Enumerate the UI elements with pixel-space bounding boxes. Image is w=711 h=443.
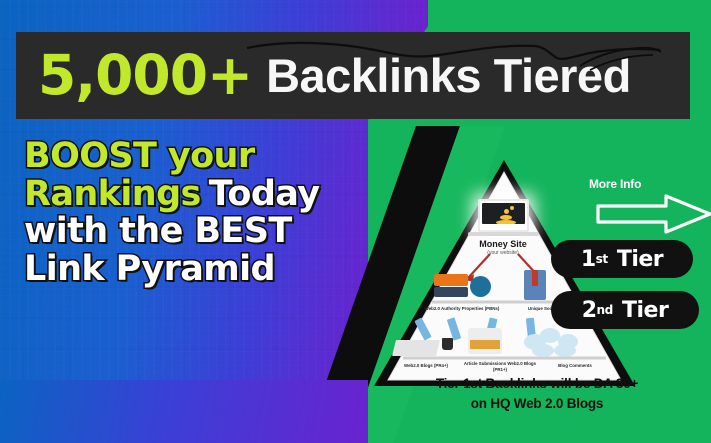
purple-bottom-band bbox=[0, 380, 368, 443]
caption-line-2: on HQ Web 2.0 Blogs bbox=[372, 394, 702, 414]
copy-line-4: Link Pyramid bbox=[24, 253, 354, 287]
tier-1-badge: 1st Tier bbox=[551, 240, 693, 278]
bookmark-book-icon bbox=[524, 270, 546, 300]
headline-banner: 5,000+ Backlinks Tiered bbox=[16, 32, 690, 119]
money-site-monitor-icon bbox=[478, 199, 529, 232]
cup-band bbox=[470, 340, 500, 349]
headline-text: Backlinks Tiered bbox=[266, 52, 631, 99]
copy-line-2: RankingsToday bbox=[24, 178, 354, 212]
bubbles-icon bbox=[554, 344, 576, 357]
copy-line-3: with the BEST bbox=[24, 215, 354, 249]
tier-2-badge: 2nd Tier bbox=[551, 291, 699, 329]
right-arrow-icon[interactable] bbox=[596, 194, 711, 234]
marketing-copy: BOOST your RankingsToday with the BEST L… bbox=[24, 140, 354, 290]
monitor-stand bbox=[468, 232, 539, 236]
money-site-label: Money Site (your website) bbox=[450, 239, 556, 256]
bubbles-icon bbox=[540, 328, 560, 343]
blogger-icon bbox=[434, 274, 468, 286]
tier1-left-caption: Web2.0 Authority Properties (PBNs) bbox=[412, 306, 512, 312]
tier2-caption-3: Blog Comments bbox=[542, 363, 608, 369]
bubbles-icon bbox=[532, 344, 554, 357]
headline-number: 5,000+ bbox=[38, 48, 252, 103]
tier2-caption-1: Web2.0 Blogs (PR4+) bbox=[386, 363, 466, 369]
more-info-label[interactable]: More Info bbox=[589, 177, 641, 191]
promo-banner-image: 5,000+ Backlinks Tiered BOOST your Ranki… bbox=[0, 0, 711, 443]
papers-icon bbox=[392, 340, 440, 356]
wordpress-icon bbox=[470, 276, 491, 297]
bottom-caption: Tier 1st Backlinks will be DA 30+ on HQ … bbox=[372, 374, 702, 413]
tier2-caption-2: Article Submissions Web2.0 Blogs (PR1+) bbox=[458, 361, 542, 372]
tumblr-icon bbox=[434, 287, 468, 297]
monitor-screen bbox=[482, 203, 525, 224]
copy-line-1: BOOST your bbox=[24, 140, 354, 174]
coffee-mug-icon bbox=[442, 338, 453, 350]
caption-line-1: Tier 1st Backlinks will be DA 30+ bbox=[372, 374, 702, 394]
